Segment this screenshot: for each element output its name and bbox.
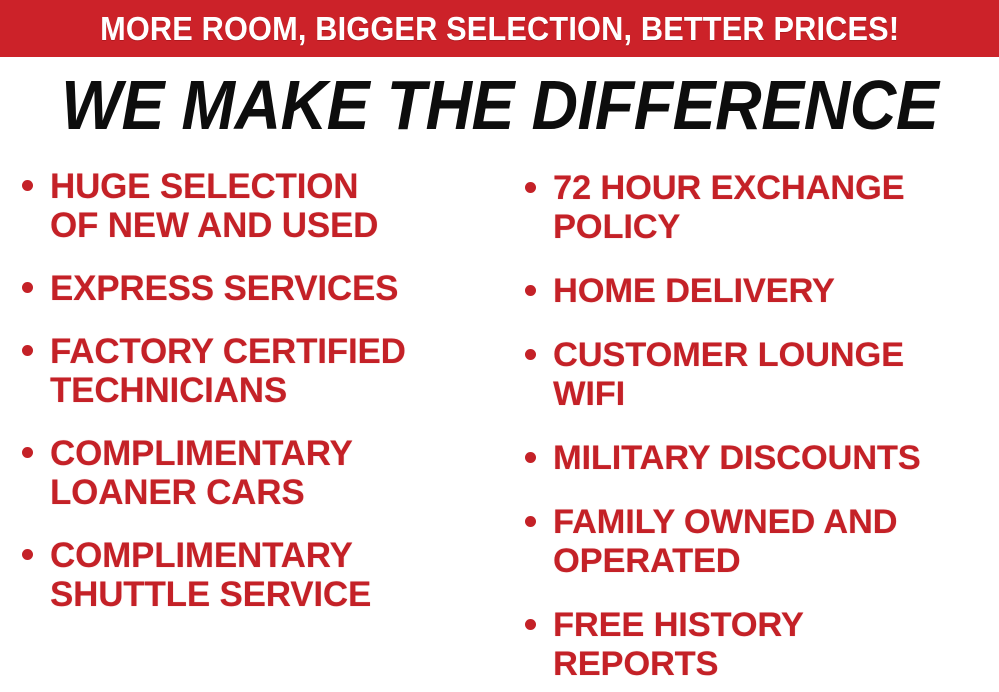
list-item-label: FAMILY OWNED AND OPERATED: [553, 503, 999, 581]
list-item: COMPLIMENTARY SHUTTLE SERVICE: [16, 536, 505, 614]
list-item-label: FACTORY CERTIFIED TECHNICIANS: [50, 332, 505, 410]
bullet-dot-icon: [22, 447, 33, 458]
list-item: HUGE SELECTION OF NEW AND USED: [16, 167, 505, 245]
list-item-label: 72 HOUR EXCHANGE POLICY: [553, 169, 999, 247]
bullet-dot-icon: [525, 285, 536, 296]
list-item-label: FREE HISTORY REPORTS: [553, 606, 999, 684]
bullet-dot-icon: [525, 452, 536, 463]
bullet-dot-icon: [22, 549, 33, 560]
list-item: FREE HISTORY REPORTS: [519, 606, 999, 684]
list-item: MILITARY DISCOUNTS: [519, 439, 999, 478]
bullet-dot-icon: [22, 282, 33, 293]
list-item: 72 HOUR EXCHANGE POLICY: [519, 169, 999, 247]
list-item: EXPRESS SERVICES: [16, 269, 505, 308]
list-item-label: HOME DELIVERY: [553, 272, 999, 311]
bullet-dot-icon: [525, 349, 536, 360]
list-item-label: CUSTOMER LOUNGE WIFI: [553, 336, 999, 414]
list-item-label: MILITARY DISCOUNTS: [553, 439, 999, 478]
page-title: WE MAKE THE DIFFERENCE: [61, 70, 938, 140]
headline-container: WE MAKE THE DIFFERENCE: [0, 60, 999, 150]
list-item-label: COMPLIMENTARY LOANER CARS: [50, 434, 505, 512]
benefits-columns: HUGE SELECTION OF NEW AND USED EXPRESS S…: [0, 155, 999, 692]
list-item: CUSTOMER LOUNGE WIFI: [519, 336, 999, 414]
list-item: FAMILY OWNED AND OPERATED: [519, 503, 999, 581]
benefits-column-right: 72 HOUR EXCHANGE POLICY HOME DELIVERY CU…: [505, 155, 999, 692]
list-item-label: COMPLIMENTARY SHUTTLE SERVICE: [50, 536, 505, 614]
bullet-dot-icon: [22, 180, 33, 191]
bullet-dot-icon: [22, 345, 33, 356]
dealership-promo-banner: MORE ROOM, BIGGER SELECTION, BETTER PRIC…: [0, 0, 999, 692]
list-item: HOME DELIVERY: [519, 272, 999, 311]
bullet-dot-icon: [525, 516, 536, 527]
benefits-list-left: HUGE SELECTION OF NEW AND USED EXPRESS S…: [16, 167, 505, 614]
benefits-list-right: 72 HOUR EXCHANGE POLICY HOME DELIVERY CU…: [519, 169, 999, 684]
bullet-dot-icon: [525, 182, 536, 193]
list-item-label: EXPRESS SERVICES: [50, 269, 505, 308]
list-item-label: HUGE SELECTION OF NEW AND USED: [50, 167, 505, 245]
benefits-column-left: HUGE SELECTION OF NEW AND USED EXPRESS S…: [0, 155, 505, 614]
top-promo-banner: MORE ROOM, BIGGER SELECTION, BETTER PRIC…: [0, 0, 999, 57]
top-promo-banner-text: MORE ROOM, BIGGER SELECTION, BETTER PRIC…: [100, 12, 899, 45]
bullet-dot-icon: [525, 619, 536, 630]
list-item: FACTORY CERTIFIED TECHNICIANS: [16, 332, 505, 410]
list-item: COMPLIMENTARY LOANER CARS: [16, 434, 505, 512]
